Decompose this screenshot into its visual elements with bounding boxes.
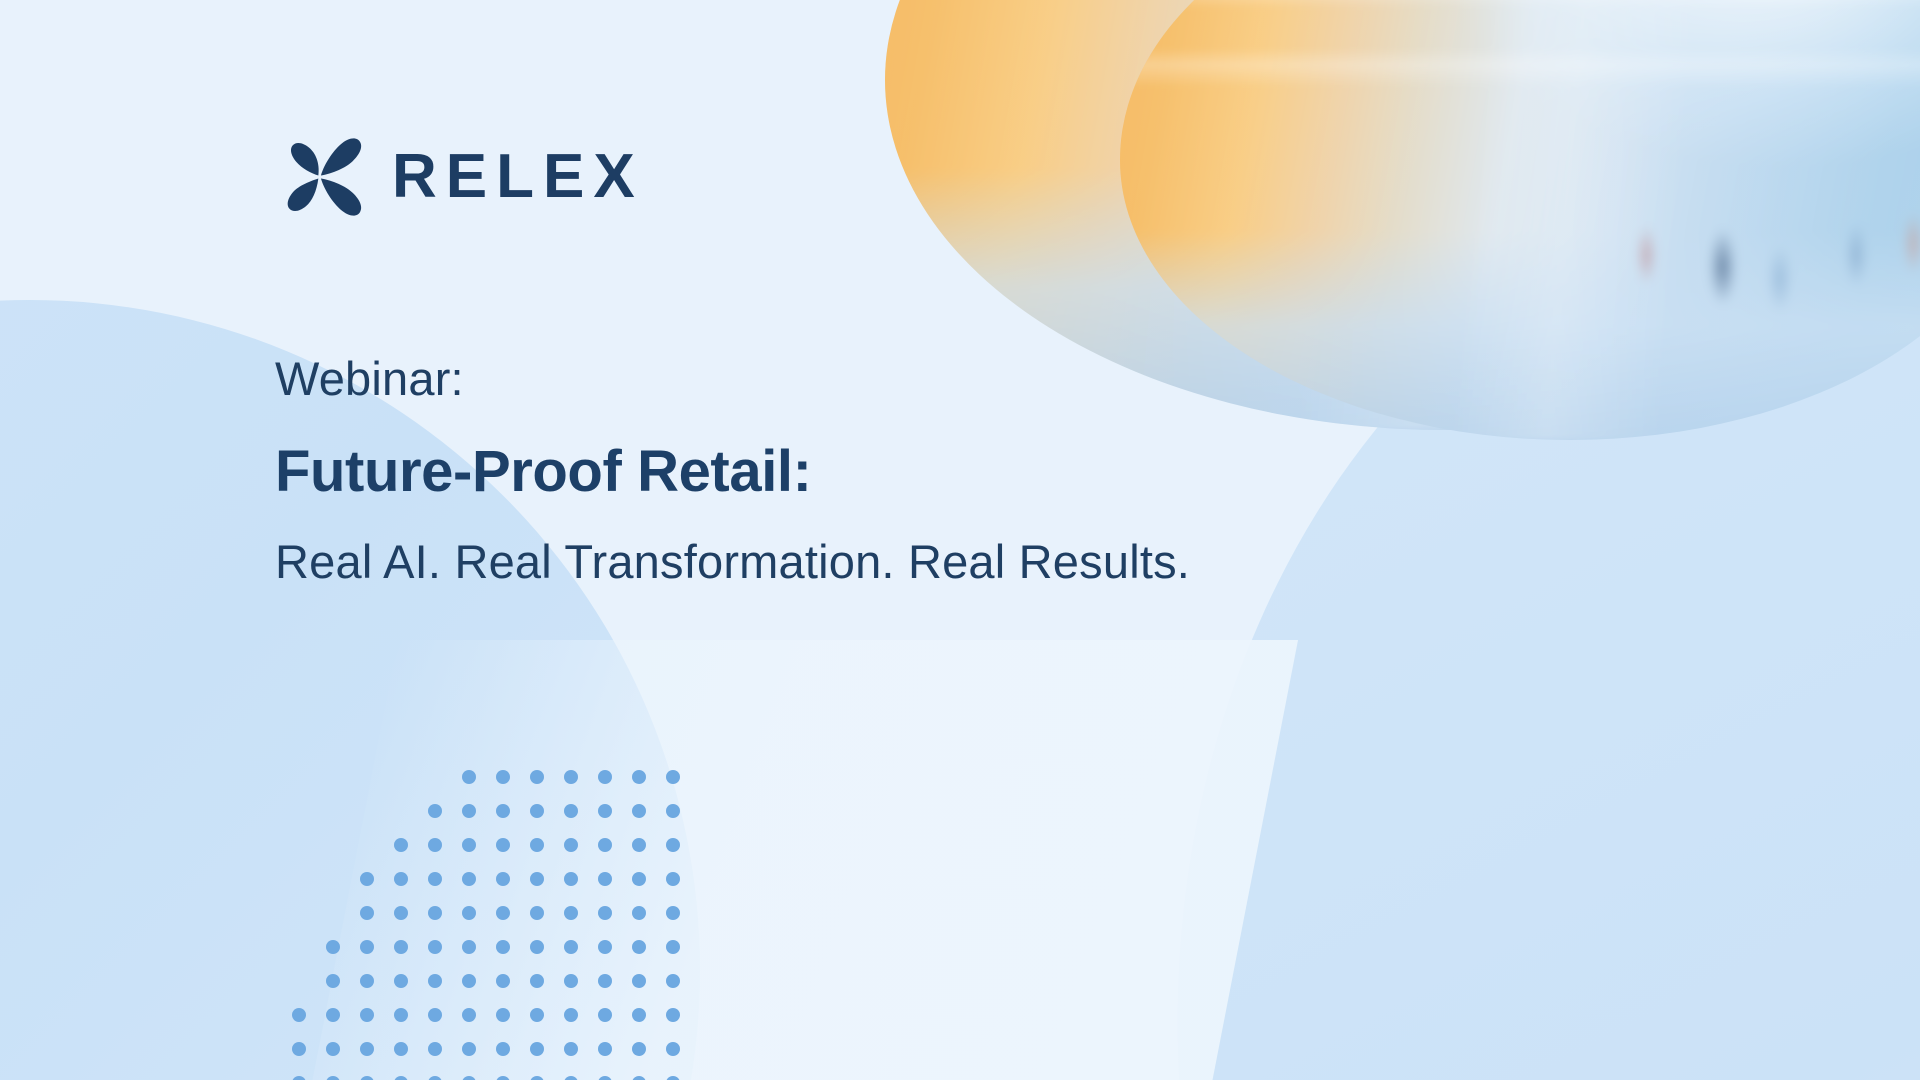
grid-dot	[428, 1042, 442, 1056]
grid-dot	[394, 838, 408, 852]
grid-dot	[564, 770, 578, 784]
grid-dot	[530, 1076, 544, 1080]
grid-dot	[394, 872, 408, 886]
grid-dot-empty	[360, 770, 374, 784]
relex-logo: RELEX	[274, 134, 644, 220]
slide-canvas: RELEX Webinar: Future-Proof Retail: Real…	[0, 0, 1920, 1080]
grid-dot	[428, 1076, 442, 1080]
grid-dot	[394, 974, 408, 988]
grid-dot	[326, 1076, 340, 1080]
grid-dot	[632, 1042, 646, 1056]
grid-dot	[632, 974, 646, 988]
grid-dot	[462, 1076, 476, 1080]
grid-dot	[462, 804, 476, 818]
grid-dot	[394, 1008, 408, 1022]
grid-dot	[632, 838, 646, 852]
grid-dot	[666, 974, 680, 988]
grid-dot	[462, 974, 476, 988]
grid-dot-empty	[326, 872, 340, 886]
grid-dot	[496, 974, 510, 988]
grid-dot	[564, 838, 578, 852]
grid-dot	[360, 906, 374, 920]
dot-grid-row	[292, 794, 700, 828]
grid-dot-empty	[292, 940, 306, 954]
dot-grid-row	[292, 862, 700, 896]
grid-dot	[326, 940, 340, 954]
grid-dot	[428, 804, 442, 818]
grid-dot	[394, 1076, 408, 1080]
dot-grid-row	[292, 760, 700, 794]
grid-dot-empty	[360, 838, 374, 852]
grid-dot	[394, 1042, 408, 1056]
grid-dot	[496, 838, 510, 852]
grid-dot	[666, 1076, 680, 1080]
grid-dot	[564, 1008, 578, 1022]
grid-dot	[496, 770, 510, 784]
grid-dot	[462, 838, 476, 852]
dot-grid-decoration	[292, 760, 700, 1080]
grid-dot	[598, 872, 612, 886]
grid-dot	[530, 974, 544, 988]
grid-dot	[530, 1008, 544, 1022]
grid-dot	[666, 838, 680, 852]
grid-dot-empty	[326, 838, 340, 852]
grid-dot-empty	[360, 804, 374, 818]
grid-dot	[632, 1008, 646, 1022]
grid-dot	[666, 872, 680, 886]
grid-dot	[564, 1042, 578, 1056]
grid-dot	[428, 1008, 442, 1022]
grid-dot	[496, 940, 510, 954]
grid-dot	[360, 872, 374, 886]
grid-dot	[598, 804, 612, 818]
grid-dot	[428, 838, 442, 852]
grid-dot	[530, 770, 544, 784]
grid-dot-empty	[292, 804, 306, 818]
grid-dot	[564, 906, 578, 920]
dot-grid-row	[292, 998, 700, 1032]
grid-dot	[564, 1076, 578, 1080]
grid-dot	[326, 1008, 340, 1022]
grid-dot	[496, 1008, 510, 1022]
grid-dot	[530, 804, 544, 818]
grid-dot	[292, 1042, 306, 1056]
grid-dot-empty	[292, 974, 306, 988]
grid-dot-empty	[292, 770, 306, 784]
grid-dot	[360, 940, 374, 954]
grid-dot	[496, 804, 510, 818]
grid-dot	[496, 906, 510, 920]
slide-copy: Webinar: Future-Proof Retail: Real AI. R…	[275, 352, 1325, 589]
relex-butterfly-mark	[274, 134, 366, 220]
grid-dot-empty	[326, 906, 340, 920]
grid-dot	[564, 872, 578, 886]
grid-dot	[496, 1042, 510, 1056]
grid-dot	[394, 940, 408, 954]
grid-dot-empty	[394, 770, 408, 784]
dot-grid-row	[292, 896, 700, 930]
grid-dot	[632, 872, 646, 886]
grid-dot	[598, 940, 612, 954]
grid-dot	[564, 974, 578, 988]
grid-dot	[428, 940, 442, 954]
dot-grid-row	[292, 1032, 700, 1066]
dot-grid-row	[292, 1066, 700, 1080]
grid-dot	[530, 838, 544, 852]
grid-dot	[666, 770, 680, 784]
grid-dot	[598, 974, 612, 988]
grid-dot	[360, 1076, 374, 1080]
grid-dot-empty	[292, 838, 306, 852]
eyebrow-text: Webinar:	[275, 352, 1325, 406]
grid-dot	[598, 838, 612, 852]
grid-dot	[462, 906, 476, 920]
dot-grid-row	[292, 930, 700, 964]
dot-grid-row	[292, 964, 700, 998]
grid-dot	[428, 974, 442, 988]
grid-dot	[394, 906, 408, 920]
headline-text: Future-Proof Retail:	[275, 440, 1325, 505]
dot-grid-row	[292, 828, 700, 862]
grid-dot	[632, 770, 646, 784]
grid-dot	[326, 1042, 340, 1056]
grid-dot	[326, 974, 340, 988]
grid-dot	[530, 906, 544, 920]
grid-dot	[530, 940, 544, 954]
grid-dot	[462, 940, 476, 954]
grid-dot	[462, 770, 476, 784]
grid-dot	[360, 974, 374, 988]
grid-dot-empty	[428, 770, 442, 784]
grid-dot-empty	[292, 906, 306, 920]
grid-dot	[598, 906, 612, 920]
grid-dot	[428, 872, 442, 886]
grid-dot	[632, 940, 646, 954]
grid-dot	[564, 940, 578, 954]
grid-dot	[666, 940, 680, 954]
grid-dot	[530, 872, 544, 886]
grid-dot-empty	[394, 804, 408, 818]
grid-dot	[530, 1042, 544, 1056]
grid-dot	[496, 1076, 510, 1080]
grid-dot	[666, 1008, 680, 1022]
grid-dot-empty	[292, 872, 306, 886]
grid-dot	[292, 1008, 306, 1022]
grid-dot	[462, 872, 476, 886]
grid-dot	[360, 1042, 374, 1056]
grid-dot	[598, 770, 612, 784]
grid-dot	[632, 1076, 646, 1080]
subheadline-text: Real AI. Real Transformation. Real Resul…	[275, 535, 1325, 589]
grid-dot	[564, 804, 578, 818]
grid-dot	[462, 1042, 476, 1056]
grid-dot	[360, 1008, 374, 1022]
grid-dot	[428, 906, 442, 920]
grid-dot	[666, 906, 680, 920]
grid-dot	[598, 1008, 612, 1022]
grid-dot	[632, 906, 646, 920]
grid-dot	[462, 1008, 476, 1022]
grid-dot	[598, 1076, 612, 1080]
grid-dot	[666, 1042, 680, 1056]
grid-dot-empty	[326, 770, 340, 784]
grid-dot	[292, 1076, 306, 1080]
grid-dot	[496, 872, 510, 886]
grid-dot	[666, 804, 680, 818]
relex-wordmark: RELEX	[392, 146, 644, 208]
grid-dot	[598, 1042, 612, 1056]
grid-dot	[632, 804, 646, 818]
grid-dot-empty	[326, 804, 340, 818]
